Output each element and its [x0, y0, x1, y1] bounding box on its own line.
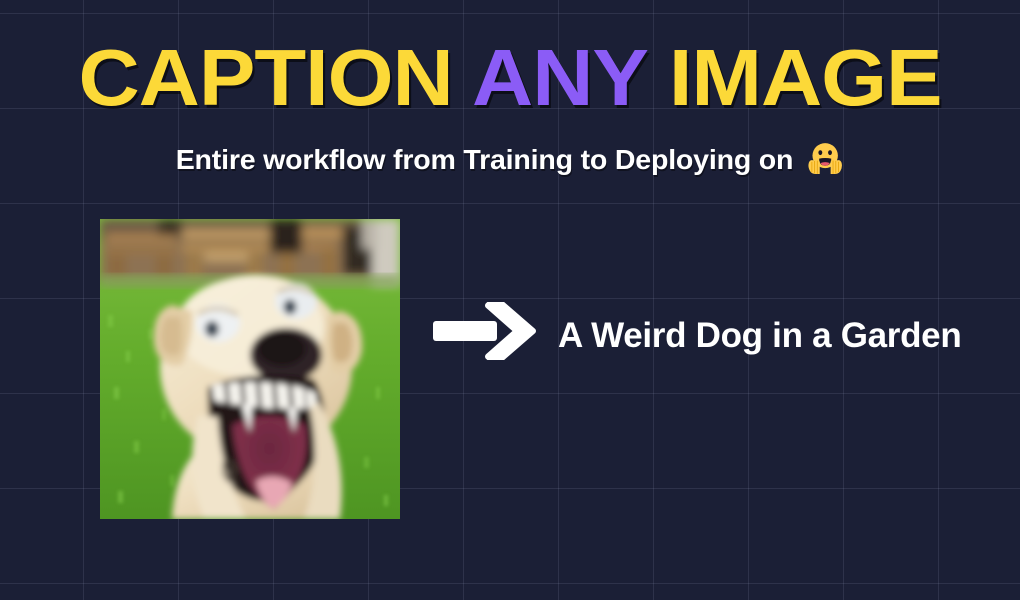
title-part-any: ANY: [472, 33, 646, 122]
input-image: [100, 219, 400, 519]
subtitle-text: Entire workflow from Training to Deployi…: [176, 144, 794, 175]
title-part-image: IMAGE: [646, 33, 941, 122]
hugging-face-emoji: [806, 139, 845, 185]
page-title: CAPTION ANY IMAGE: [0, 38, 1020, 118]
right-arrow-icon: [433, 302, 537, 360]
subtitle: Entire workflow from Training to Deployi…: [0, 139, 1020, 185]
output-caption-text: A Weird Dog in a Garden: [558, 316, 961, 356]
title-part-caption: CAPTION: [78, 33, 472, 122]
slide-canvas: CAPTION ANY IMAGE Entire workflow from T…: [0, 0, 1020, 600]
